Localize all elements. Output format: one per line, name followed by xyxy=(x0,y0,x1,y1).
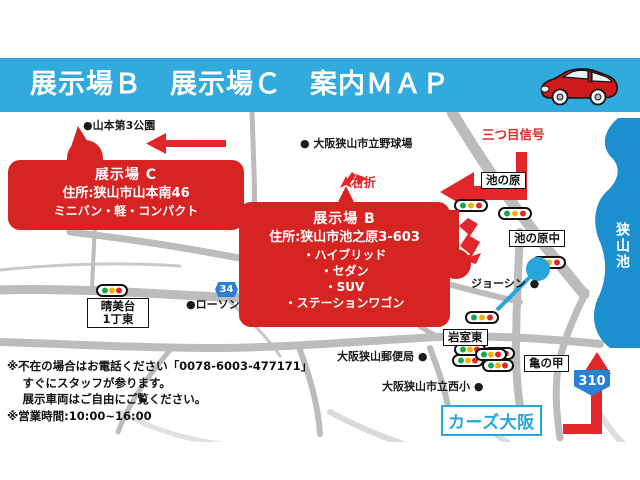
map-flyer: 展示場Ｂ 展示場Ｃ 案内ＭＡＰ xyxy=(0,0,640,480)
callout-b-connector xyxy=(437,210,459,252)
store-label-cars-osaka: カーズ大阪 xyxy=(441,405,542,436)
callout-b-item-3: ・ステーションワゴン xyxy=(239,295,450,311)
boxed-label-ikenohara: 池の原 xyxy=(481,172,526,189)
callout-b-item-1: ・セダン xyxy=(239,263,450,279)
boxed-label-kamenoko: 亀の甲 xyxy=(524,355,569,372)
callout-showroom-b: 展示場 B 住所:狭山市池之原3-603 ・ハイブリッド ・セダン ・SUV ・… xyxy=(239,202,450,327)
boxed-label-iwamuro-higashi: 岩室東 xyxy=(443,329,488,346)
poi-nishi-elementary: 大阪狭山市立西小 ● xyxy=(382,378,483,394)
lake-label-sayamaike: 狭山池 xyxy=(612,222,632,270)
callout-c-title: 展示場 C xyxy=(8,166,244,185)
callout-b-tail xyxy=(334,186,358,210)
callout-c-tail xyxy=(64,126,104,168)
callout-b-address: 住所:狭山市池之原3-603 xyxy=(239,229,450,247)
callout-b-item-2: ・SUV xyxy=(239,279,450,295)
callout-showroom-c: 展示場 C 住所:狭山市山本南46 ミニバン・軽・コンパクト xyxy=(8,160,244,230)
poi-joshin: ジョーシン ● xyxy=(471,275,539,291)
annotation-third-signal: 三つ目信号 xyxy=(482,124,545,143)
callout-c-types: ミニバン・軽・コンパクト xyxy=(8,203,244,219)
header-banner: 展示場Ｂ 展示場Ｃ 案内ＭＡＰ xyxy=(0,58,640,112)
page-title: 展示場Ｂ 展示場Ｃ 案内ＭＡＰ xyxy=(30,66,510,104)
boxed-label-harumidai: 晴美台 1丁東 xyxy=(87,298,149,328)
red-car-icon xyxy=(532,63,624,107)
poi-baseball-stadium: ● 大阪狭山市立野球場 xyxy=(300,135,412,151)
poi-post-office: 大阪狭山郵便局 ● xyxy=(337,348,427,364)
callout-b-title: 展示場 B xyxy=(239,210,450,229)
footer-note: ※不在の場合はお電話ください「0078-6003-477171」 すぐにスタッフ… xyxy=(7,358,312,424)
callout-b-item-0: ・ハイブリッド xyxy=(239,247,450,263)
poi-lawson: ●ローソン xyxy=(186,296,240,312)
route-shield-34: 34 xyxy=(215,282,238,297)
callout-c-address: 住所:狭山市山本南46 xyxy=(8,185,244,203)
boxed-label-ikenohara-naka: 池の原中 xyxy=(509,230,565,247)
